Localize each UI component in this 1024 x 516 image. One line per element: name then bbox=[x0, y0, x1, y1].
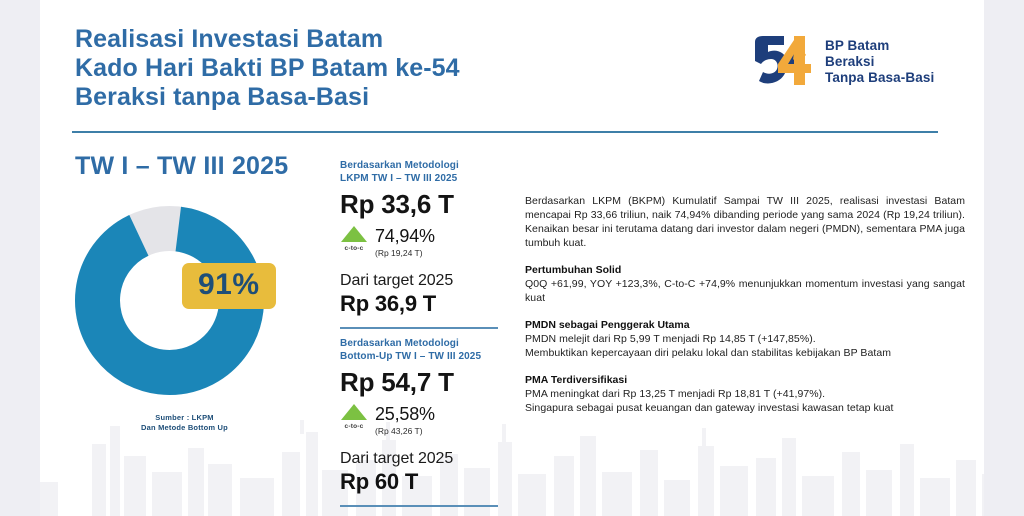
source-line-2: Dan Metode Bottom Up bbox=[72, 423, 297, 433]
metric-label-lkpm: Berdasarkan Metodologi LKPM TW I – TW II… bbox=[340, 160, 502, 185]
delta-percent-bottomup: 25,58% bbox=[375, 404, 435, 424]
metric-divider-2 bbox=[340, 505, 498, 507]
section-body-3: PMA meningkat dari Rp 13,25 T menjadi Rp… bbox=[525, 387, 965, 415]
metric-divider-1 bbox=[340, 327, 498, 329]
delta-base-lkpm: (Rp 19,24 T) bbox=[375, 248, 435, 259]
metric-block-bottomup: Berdasarkan Metodologi Bottom-Up TW I – … bbox=[340, 338, 502, 495]
donut-chart: 91% bbox=[72, 203, 297, 403]
delta-base-bottomup: (Rp 43,26 T) bbox=[375, 426, 435, 437]
delta-text-lkpm: 74,94% (Rp 19,24 T) bbox=[375, 226, 435, 259]
section-heading-2: PMDN sebagai Penggerak Utama bbox=[525, 318, 965, 332]
page-title: Realisasi Investasi Batam Kado Hari Bakt… bbox=[75, 25, 460, 112]
metric-label-bottomup: Berdasarkan Metodologi Bottom-Up TW I – … bbox=[340, 338, 502, 363]
left-column: TW I – TW III 2025 91% Sumber : LKPM Dan… bbox=[60, 152, 325, 433]
title-line-1: Realisasi Investasi Batam bbox=[75, 25, 460, 54]
section-body-2: PMDN melejit dari Rp 5,99 T menjadi Rp 1… bbox=[525, 332, 965, 360]
target-label-lkpm: Dari target 2025 bbox=[340, 271, 502, 290]
middle-metrics-column: Berdasarkan Metodologi LKPM TW I – TW II… bbox=[340, 160, 502, 516]
source-line-1: Sumber : LKPM bbox=[72, 413, 297, 423]
chart-source-note: Sumber : LKPM Dan Metode Bottom Up bbox=[72, 413, 297, 433]
metric-label2-line-1: Berdasarkan Metodologi bbox=[340, 338, 502, 351]
arrow-up-icon bbox=[341, 404, 367, 420]
section-heading-3: PMA Terdiversifikasi bbox=[525, 373, 965, 387]
intro-paragraph: Berdasarkan LKPM (BKPM) Kumulatif Sampai… bbox=[525, 194, 965, 250]
page-edge-right bbox=[984, 0, 1024, 516]
percentage-badge: 91% bbox=[182, 263, 276, 309]
bp-batam-logo: BP Batam Beraksi Tanpa Basa-Basi bbox=[748, 30, 934, 92]
section-body-1: Q0Q +61,99, YOY +123,3%, C-to-C +74,9% m… bbox=[525, 277, 965, 305]
logo-line-2: Beraksi bbox=[825, 54, 934, 70]
section-heading-1: Pertumbuhan Solid bbox=[525, 263, 965, 277]
arrow-up-icon bbox=[341, 226, 367, 242]
page-edge-left bbox=[0, 0, 40, 516]
infographic-canvas: Realisasi Investasi Batam Kado Hari Bakt… bbox=[0, 0, 1024, 516]
metric-delta-bottomup: c-to-c 25,58% (Rp 43,26 T) bbox=[340, 404, 502, 437]
metric-label2-line-2: Bottom-Up TW I – TW III 2025 bbox=[340, 351, 502, 364]
logo-line-1: BP Batam bbox=[825, 38, 934, 54]
target-label-bottomup: Dari target 2025 bbox=[340, 449, 502, 468]
metric-delta-lkpm: c-to-c 74,94% (Rp 19,24 T) bbox=[340, 226, 502, 259]
delta-indicator-lkpm: c-to-c bbox=[340, 226, 368, 252]
period-heading: TW I – TW III 2025 bbox=[75, 152, 325, 181]
title-line-3: Beraksi tanpa Basa-Basi bbox=[75, 83, 460, 112]
delta-indicator-bottomup: c-to-c bbox=[340, 404, 368, 430]
header-divider bbox=[72, 131, 938, 133]
logo-text: BP Batam Beraksi Tanpa Basa-Basi bbox=[825, 37, 934, 86]
delta-text-bottomup: 25,58% (Rp 43,26 T) bbox=[375, 404, 435, 437]
metric-label-line-1: Berdasarkan Metodologi bbox=[340, 160, 502, 173]
delta-caption-bottomup: c-to-c bbox=[345, 423, 364, 430]
metric-block-lkpm: Berdasarkan Metodologi LKPM TW I – TW II… bbox=[340, 160, 502, 317]
logo-line-3: Tanpa Basa-Basi bbox=[825, 70, 934, 86]
metric-value-lkpm: Rp 33,6 T bbox=[340, 189, 502, 220]
metric-label-line-2: LKPM TW I – TW III 2025 bbox=[340, 173, 502, 186]
header: Realisasi Investasi Batam Kado Hari Bakt… bbox=[0, 0, 1024, 140]
narrative-column: Berdasarkan LKPM (BKPM) Kumulatif Sampai… bbox=[525, 194, 965, 415]
target-value-bottomup: Rp 60 T bbox=[340, 469, 502, 495]
title-line-2: Kado Hari Bakti BP Batam ke-54 bbox=[75, 54, 460, 83]
logo-54-icon bbox=[748, 30, 816, 92]
delta-percent-lkpm: 74,94% bbox=[375, 226, 435, 246]
delta-caption-lkpm: c-to-c bbox=[345, 245, 364, 252]
target-value-lkpm: Rp 36,9 T bbox=[340, 291, 502, 317]
metric-value-bottomup: Rp 54,7 T bbox=[340, 367, 502, 398]
